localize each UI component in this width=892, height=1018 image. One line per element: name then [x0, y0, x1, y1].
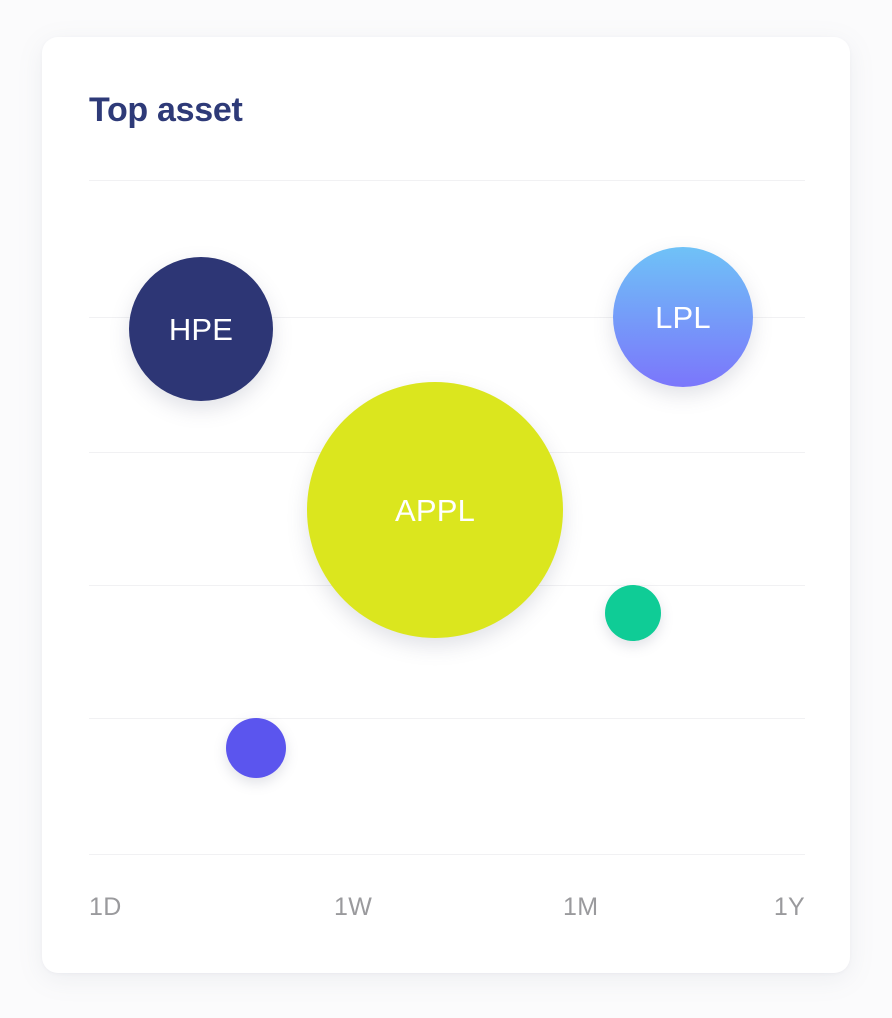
- bubble-label-lpl: LPL: [655, 302, 711, 333]
- bubble-chart-plot-area: HPE LPL APPL: [89, 180, 805, 855]
- gridline-6: [89, 854, 805, 855]
- x-axis: 1D 1W 1M 1Y: [89, 892, 805, 932]
- bubble-appl[interactable]: APPL: [307, 382, 563, 638]
- bubble-green-unlabeled[interactable]: [605, 585, 661, 641]
- x-tick-1y[interactable]: 1Y: [774, 892, 805, 922]
- x-tick-1w[interactable]: 1W: [334, 892, 372, 922]
- gridline-5: [89, 718, 805, 719]
- bubble-lpl[interactable]: LPL: [613, 247, 753, 387]
- x-tick-1d[interactable]: 1D: [89, 892, 122, 922]
- x-tick-1m[interactable]: 1M: [563, 892, 598, 922]
- page-title: Top asset: [89, 87, 243, 133]
- gridline-1: [89, 180, 805, 181]
- bubble-hpe[interactable]: HPE: [129, 257, 273, 401]
- bubble-purple-unlabeled[interactable]: [226, 718, 286, 778]
- top-asset-card: Top asset HPE LPL APPL 1D 1W 1M 1Y: [42, 37, 850, 973]
- bubble-label-appl: APPL: [395, 495, 475, 526]
- bubble-label-hpe: HPE: [169, 314, 233, 345]
